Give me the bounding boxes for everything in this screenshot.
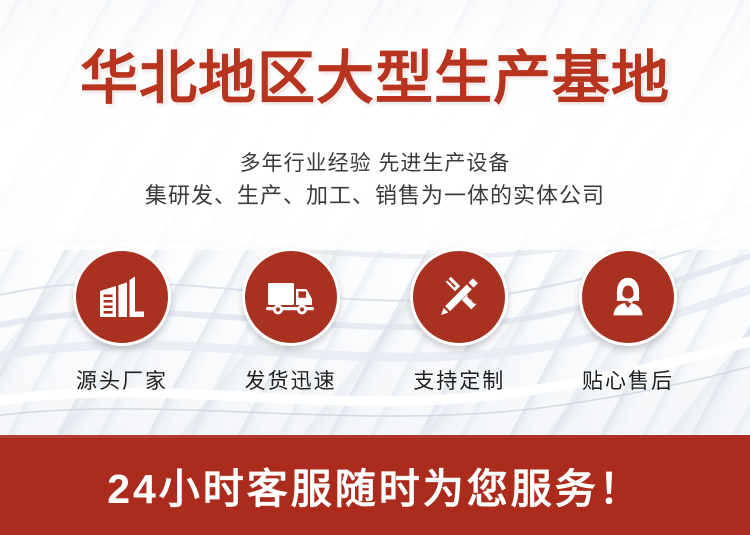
feature-item-fast-delivery[interactable]: 发货迅速 <box>211 248 371 395</box>
feature-label: 支持定制 <box>413 365 505 395</box>
feature-label: 发货迅速 <box>245 365 337 395</box>
cta-banner[interactable]: 24小时客服随时为您服务！ <box>0 435 750 535</box>
feature-item-source-factory[interactable]: 源头厂家 <box>42 248 202 395</box>
feature-list: 源头厂家 发货迅速 <box>42 248 708 395</box>
customer-service-agent-icon <box>601 270 655 324</box>
feature-icon-circle <box>73 248 171 346</box>
delivery-truck-icon <box>263 269 319 325</box>
subtitle-block: 多年行业经验 先进生产设备 集研发、生产、加工、销售为一体的实体公司 <box>0 148 750 212</box>
subtitle-line-2: 集研发、生产、加工、销售为一体的实体公司 <box>0 180 750 212</box>
page-title: 华北地区大型生产基地 <box>0 50 750 108</box>
feature-item-customization[interactable]: 支持定制 <box>379 248 539 395</box>
feature-label: 贴心售后 <box>582 365 674 395</box>
cta-banner-top-edge <box>0 435 750 438</box>
feature-label: 源头厂家 <box>76 365 168 395</box>
pencil-ruler-icon <box>432 270 486 324</box>
feature-icon-circle <box>579 248 677 346</box>
subtitle-line-1: 多年行业经验 先进生产设备 <box>0 148 750 180</box>
feature-icon-circle <box>410 248 508 346</box>
feature-icon-circle <box>242 248 340 346</box>
cta-text: 24小时客服随时为您服务！ <box>107 455 643 515</box>
promo-banner: 华北地区大型生产基地 多年行业经验 先进生产设备 集研发、生产、加工、销售为一体… <box>0 0 750 535</box>
factory-building-icon <box>94 269 150 325</box>
feature-item-after-sales[interactable]: 贴心售后 <box>548 248 708 395</box>
